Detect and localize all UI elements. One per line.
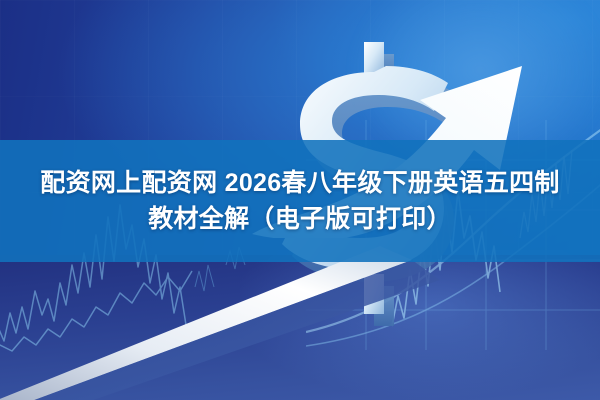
headline-line-2: 教材全解（电子版可打印） — [148, 202, 452, 237]
banner-image: 配资网上配资网 2026春八年级下册英语五四制 教材全解（电子版可打印） — [0, 0, 600, 400]
platform-ledge — [0, 240, 440, 400]
headline-line-1: 配资网上配资网 2026春八年级下册英语五四制 — [40, 166, 559, 201]
caption-band: 配资网上配资网 2026春八年级下册英语五四制 教材全解（电子版可打印） — [0, 140, 600, 262]
